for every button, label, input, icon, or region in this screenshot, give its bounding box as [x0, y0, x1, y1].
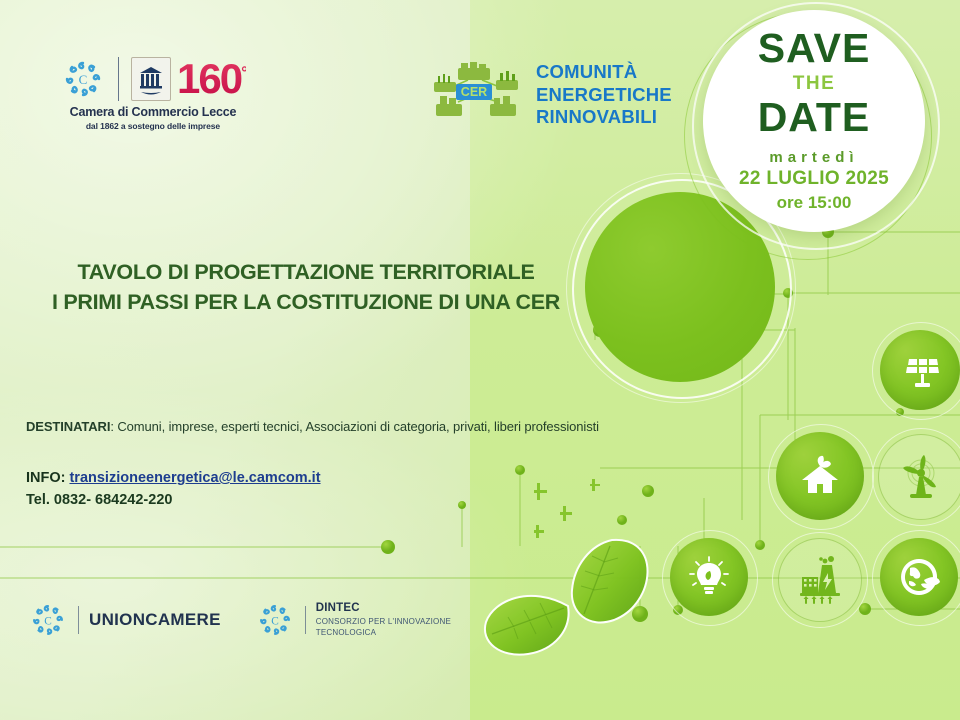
chamber-name: Camera di Commercio Lecce: [70, 105, 237, 119]
dintec-logo: C DINTEC CONSORZIO PER L'INNOVAZIONE TEC…: [255, 600, 451, 640]
anniversary-value: 160: [177, 55, 241, 102]
audience-value: Comuni, imprese, esperti tecnici, Associ…: [117, 419, 599, 434]
eco-lightbulb-glyph: [686, 554, 732, 600]
audience-line: DESTINATARI: Comuni, imprese, esperti te…: [26, 419, 599, 434]
anniversary-number: 160°: [177, 61, 246, 97]
cer-network-icon: CER: [428, 58, 524, 132]
badge-weekday: martedì: [769, 149, 858, 168]
info-line: INFO:transizioneenergetica@le.camcom.it: [26, 470, 321, 486]
cer-line-1: COMUNITÀ: [536, 61, 672, 84]
logo-divider: [305, 606, 306, 634]
unioncamere-name: UNIONCAMERE: [89, 610, 221, 630]
logo-divider: [78, 606, 79, 634]
wind-turbine-icon: [878, 434, 960, 520]
save-the-date-badge: SAVE THE DATE martedì 22 LUGLIO 2025 ore…: [703, 10, 925, 232]
camera-di-commercio-logo: C 160° Camera di Commercio L: [60, 56, 246, 131]
wind-turbine-glyph: [895, 451, 947, 503]
dintec-subtitle-line-1: CONSORZIO PER L'INNOVAZIONE: [316, 617, 451, 627]
crest-badge: [131, 57, 171, 101]
cer-line-3: RINNOVABILI: [536, 106, 672, 129]
badge-the-text: THE: [793, 74, 836, 93]
eco-globe-icon: [880, 538, 958, 616]
dintec-emblem-icon: C: [255, 600, 295, 640]
svg-text:C: C: [271, 615, 279, 627]
cer-logo-text: COMUNITÀ ENERGETICHE RINNOVABILI: [536, 61, 672, 129]
eco-globe-glyph: [896, 554, 942, 600]
badge-time: ore 15:00: [777, 192, 852, 214]
unioncamere-emblem-icon: C: [28, 600, 68, 640]
event-title-line-1: TAVOLO DI PROGETTAZIONE TERRITORIALE: [36, 258, 576, 288]
svg-text:C: C: [44, 615, 52, 627]
power-plant-icon: [778, 538, 862, 622]
contact-email-link[interactable]: transizioneenergetica@le.camcom.it: [69, 470, 320, 486]
unioncamere-logo: C UNIONCAMERE: [28, 600, 221, 640]
eco-lightbulb-icon: [670, 538, 748, 616]
event-title: TAVOLO DI PROGETTAZIONE TERRITORIALE I P…: [36, 258, 576, 317]
dintec-text-block: DINTEC CONSORZIO PER L'INNOVAZIONE TECNO…: [316, 602, 451, 637]
footer-logos: C UNIONCAMERE C DIN: [28, 600, 451, 640]
unioncamere-emblem-icon: C: [60, 56, 106, 102]
cer-logo: CER COMUNITÀ ENERGETICHE RINNOVABILI: [428, 58, 672, 132]
info-label: INFO:: [26, 470, 65, 486]
badge-date-text: DATE: [758, 97, 871, 138]
classical-building-icon: [136, 62, 166, 96]
degree-symbol: °: [241, 63, 246, 82]
chamber-tagline: dal 1862 a sostegno delle imprese: [86, 121, 220, 131]
poster-canvas: SAVE THE DATE martedì 22 LUGLIO 2025 ore…: [0, 0, 960, 720]
power-plant-glyph: [794, 555, 846, 605]
badge-save-text: SAVE: [758, 28, 871, 69]
eco-house-icon: [776, 432, 864, 520]
solar-panel-icon: [880, 330, 960, 410]
badge-day: 22 LUGLIO 2025: [739, 167, 889, 192]
event-title-line-2: I PRIMI PASSI PER LA COSTITUZIONE DI UNA…: [36, 288, 576, 318]
svg-text:C: C: [79, 72, 88, 87]
svg-text:CER: CER: [461, 85, 487, 99]
solar-panel-glyph: [897, 347, 943, 393]
contact-phone: Tel. 0832- 684242-220: [26, 492, 172, 508]
dintec-name: DINTEC: [316, 602, 451, 615]
eco-house-glyph: [795, 451, 845, 501]
logo-divider: [118, 57, 119, 101]
cer-line-2: ENERGETICHE: [536, 84, 672, 107]
audience-label: DESTINATARI: [26, 419, 110, 434]
dintec-subtitle-line-2: TECNOLOGICA: [316, 628, 451, 638]
